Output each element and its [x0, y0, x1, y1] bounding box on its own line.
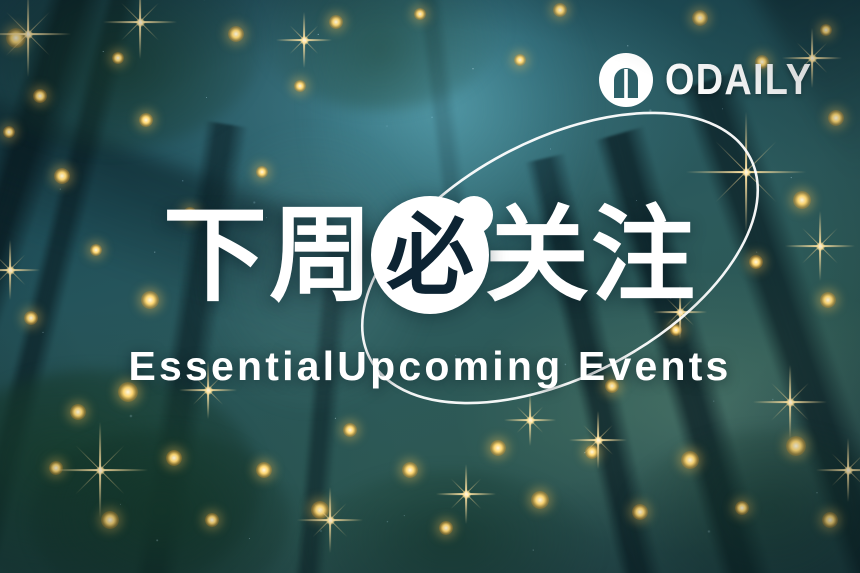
bokeh-light [49, 461, 63, 475]
star-burst-icon [569, 411, 627, 469]
bokeh-light [228, 26, 244, 42]
odaily-circle-logo-icon [598, 52, 654, 108]
bokeh-light [820, 24, 832, 36]
bokeh-light [828, 110, 844, 126]
headline-text-pre: 下周 [163, 203, 375, 307]
bokeh-light [553, 3, 567, 17]
bokeh-light [439, 521, 453, 535]
star-burst-icon [276, 12, 332, 68]
bokeh-light [735, 501, 749, 515]
bokeh-light [585, 445, 599, 459]
star-burst-icon [436, 464, 496, 524]
bokeh-light [329, 15, 343, 29]
headline-text-post: 关注 [485, 203, 697, 307]
star-burst-icon [816, 438, 860, 502]
star-burst-icon [504, 394, 556, 446]
bokeh-light [33, 89, 47, 103]
bokeh-light [256, 462, 272, 478]
bokeh-light [256, 166, 268, 178]
bokeh-light [402, 462, 418, 478]
bokeh-light [6, 28, 26, 48]
bokeh-light [414, 8, 426, 20]
bokeh-light [632, 504, 648, 520]
odaily-upcoming-events-banner: ODAILY 下周 必 关注 EssentialUpcoming Events [0, 0, 860, 573]
bokeh-light [670, 324, 682, 336]
bokeh-light [294, 80, 306, 92]
bokeh-light [490, 440, 506, 456]
star-burst-icon [52, 422, 148, 518]
bokeh-light [139, 113, 153, 127]
subtitle: EssentialUpcoming Events [0, 343, 860, 390]
bokeh-light [531, 491, 549, 509]
star-burst-icon [297, 487, 363, 553]
bokeh-light [70, 404, 86, 420]
bokeh-light [101, 511, 119, 529]
bokeh-light [205, 513, 219, 527]
headline-badge-circle: 必 [371, 196, 489, 314]
bokeh-light [822, 512, 838, 528]
odaily-wordmark: ODAILY [665, 58, 812, 102]
bokeh-light [786, 436, 806, 456]
bokeh-light [343, 423, 357, 437]
bokeh-light [166, 450, 182, 466]
headline-badge-char: 必 [386, 212, 474, 300]
star-burst-icon [103, 0, 177, 59]
bokeh-light [681, 451, 699, 469]
bokeh-light [3, 126, 15, 138]
bokeh-light [311, 501, 329, 519]
odaily-logo[interactable]: ODAILY [598, 52, 836, 108]
headline: 下周 必 关注 [0, 190, 860, 320]
bokeh-light [54, 168, 70, 184]
bokeh-light [514, 54, 526, 66]
bokeh-light [692, 10, 708, 26]
bokeh-light [112, 52, 124, 64]
